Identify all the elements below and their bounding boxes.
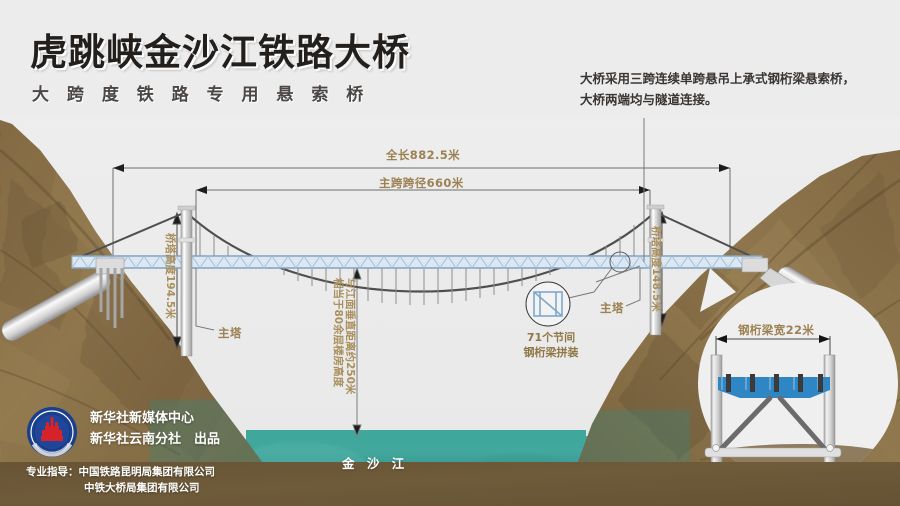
header: 虎跳峡金沙江铁路大桥 大 跨 度 铁 路 专 用 悬 索 桥 大桥采用三跨连续单… — [0, 0, 900, 118]
river-name-label: 金 沙 江 — [342, 453, 408, 472]
xinhua-news-agency-logo — [26, 406, 78, 458]
header-description-line1: 大桥采用三跨连续单跨悬吊上承式钢桁梁悬索桥， — [580, 68, 900, 89]
header-description-line2: 大桥两端均与隧道连接。 — [580, 89, 900, 110]
segment-callout: 71个节间 钢桁梁拼装 — [508, 330, 594, 360]
segment-count-label: 71个节间 — [508, 330, 594, 345]
truss-width-label: 钢桁梁宽22米 — [738, 322, 814, 338]
advisor-org-1: 中国铁路昆明局集团有限公司 — [79, 466, 216, 478]
agency-line-2: 新华社云南分社 出品 — [90, 429, 220, 450]
advisor-line-1: 专业指导：中国铁路昆明局集团有限公司 — [26, 464, 215, 480]
advisor-org-2: 中铁大桥局集团有限公司 — [26, 480, 215, 496]
page-title: 虎跳峡金沙江铁路大桥 — [30, 22, 410, 76]
left-tower-height-label: 桥塔高度194.5米 — [163, 233, 178, 319]
advisor-label: 专业指导： — [26, 466, 79, 478]
agency-line-1: 新华社新媒体中心 — [90, 408, 220, 429]
segment-detail-inset — [526, 282, 570, 326]
total-length-label: 全长882.5米 — [386, 147, 460, 163]
main-tower-left-label: 主塔 — [218, 325, 242, 341]
main-span-label: 主跨跨径660米 — [379, 175, 464, 191]
right-tower-height-label: 桥塔高度148.5米 — [649, 226, 664, 312]
header-description: 大桥采用三跨连续单跨悬吊上承式钢桁梁悬索桥， 大桥两端均与隧道连接。 — [580, 68, 900, 110]
infographic-root: 虎跳峡金沙江铁路大桥 大 跨 度 铁 路 专 用 悬 索 桥 大桥采用三跨连续单… — [0, 0, 900, 506]
agency-name: 新华社新媒体中心 新华社云南分社 出品 — [90, 408, 220, 450]
river-clearance-label-2: 相当于80余层楼房高度 — [331, 278, 346, 387]
advisor-block: 专业指导：中国铁路昆明局集团有限公司 中铁大桥局集团有限公司 — [26, 464, 215, 496]
page-subtitle: 大 跨 度 铁 路 专 用 悬 索 桥 — [32, 80, 369, 105]
segment-desc-label: 钢桁梁拼装 — [508, 345, 594, 360]
main-tower-right-label: 主塔 — [600, 300, 624, 316]
